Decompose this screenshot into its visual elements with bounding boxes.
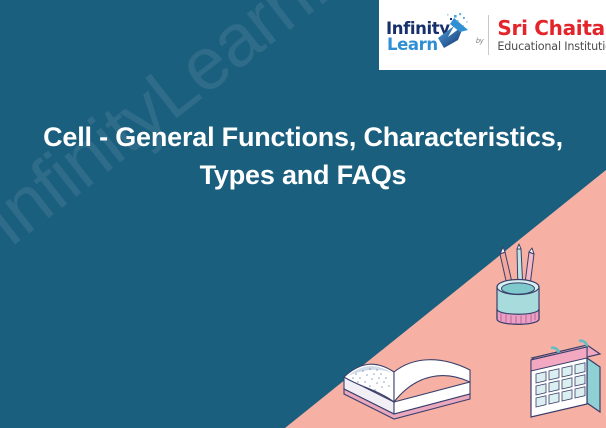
pencil-cup-icon	[487, 243, 549, 335]
sri-chaitanya-logo: Sri Chaitanya Educational Institutions	[497, 18, 606, 53]
logo-divider	[488, 15, 489, 55]
sri-chaitanya-title: Sri Chaitanya	[497, 18, 606, 39]
arrow-bird-icon	[434, 12, 478, 50]
infinity-learn-word-learn: Learn	[387, 35, 438, 54]
sri-chaitanya-subtitle: Educational Institutions	[497, 40, 606, 53]
brand-logo-panel[interactable]: Infinity Learn by	[379, 0, 606, 70]
desk-calendar-icon	[527, 328, 606, 428]
thumbnail-canvas: InfinityLearn.com Infinity Learn	[0, 0, 606, 428]
open-book-icon	[332, 330, 482, 422]
infinity-learn-logo: Infinity Learn	[386, 10, 474, 60]
page-title: Cell - General Functions, Characteristic…	[0, 118, 606, 195]
